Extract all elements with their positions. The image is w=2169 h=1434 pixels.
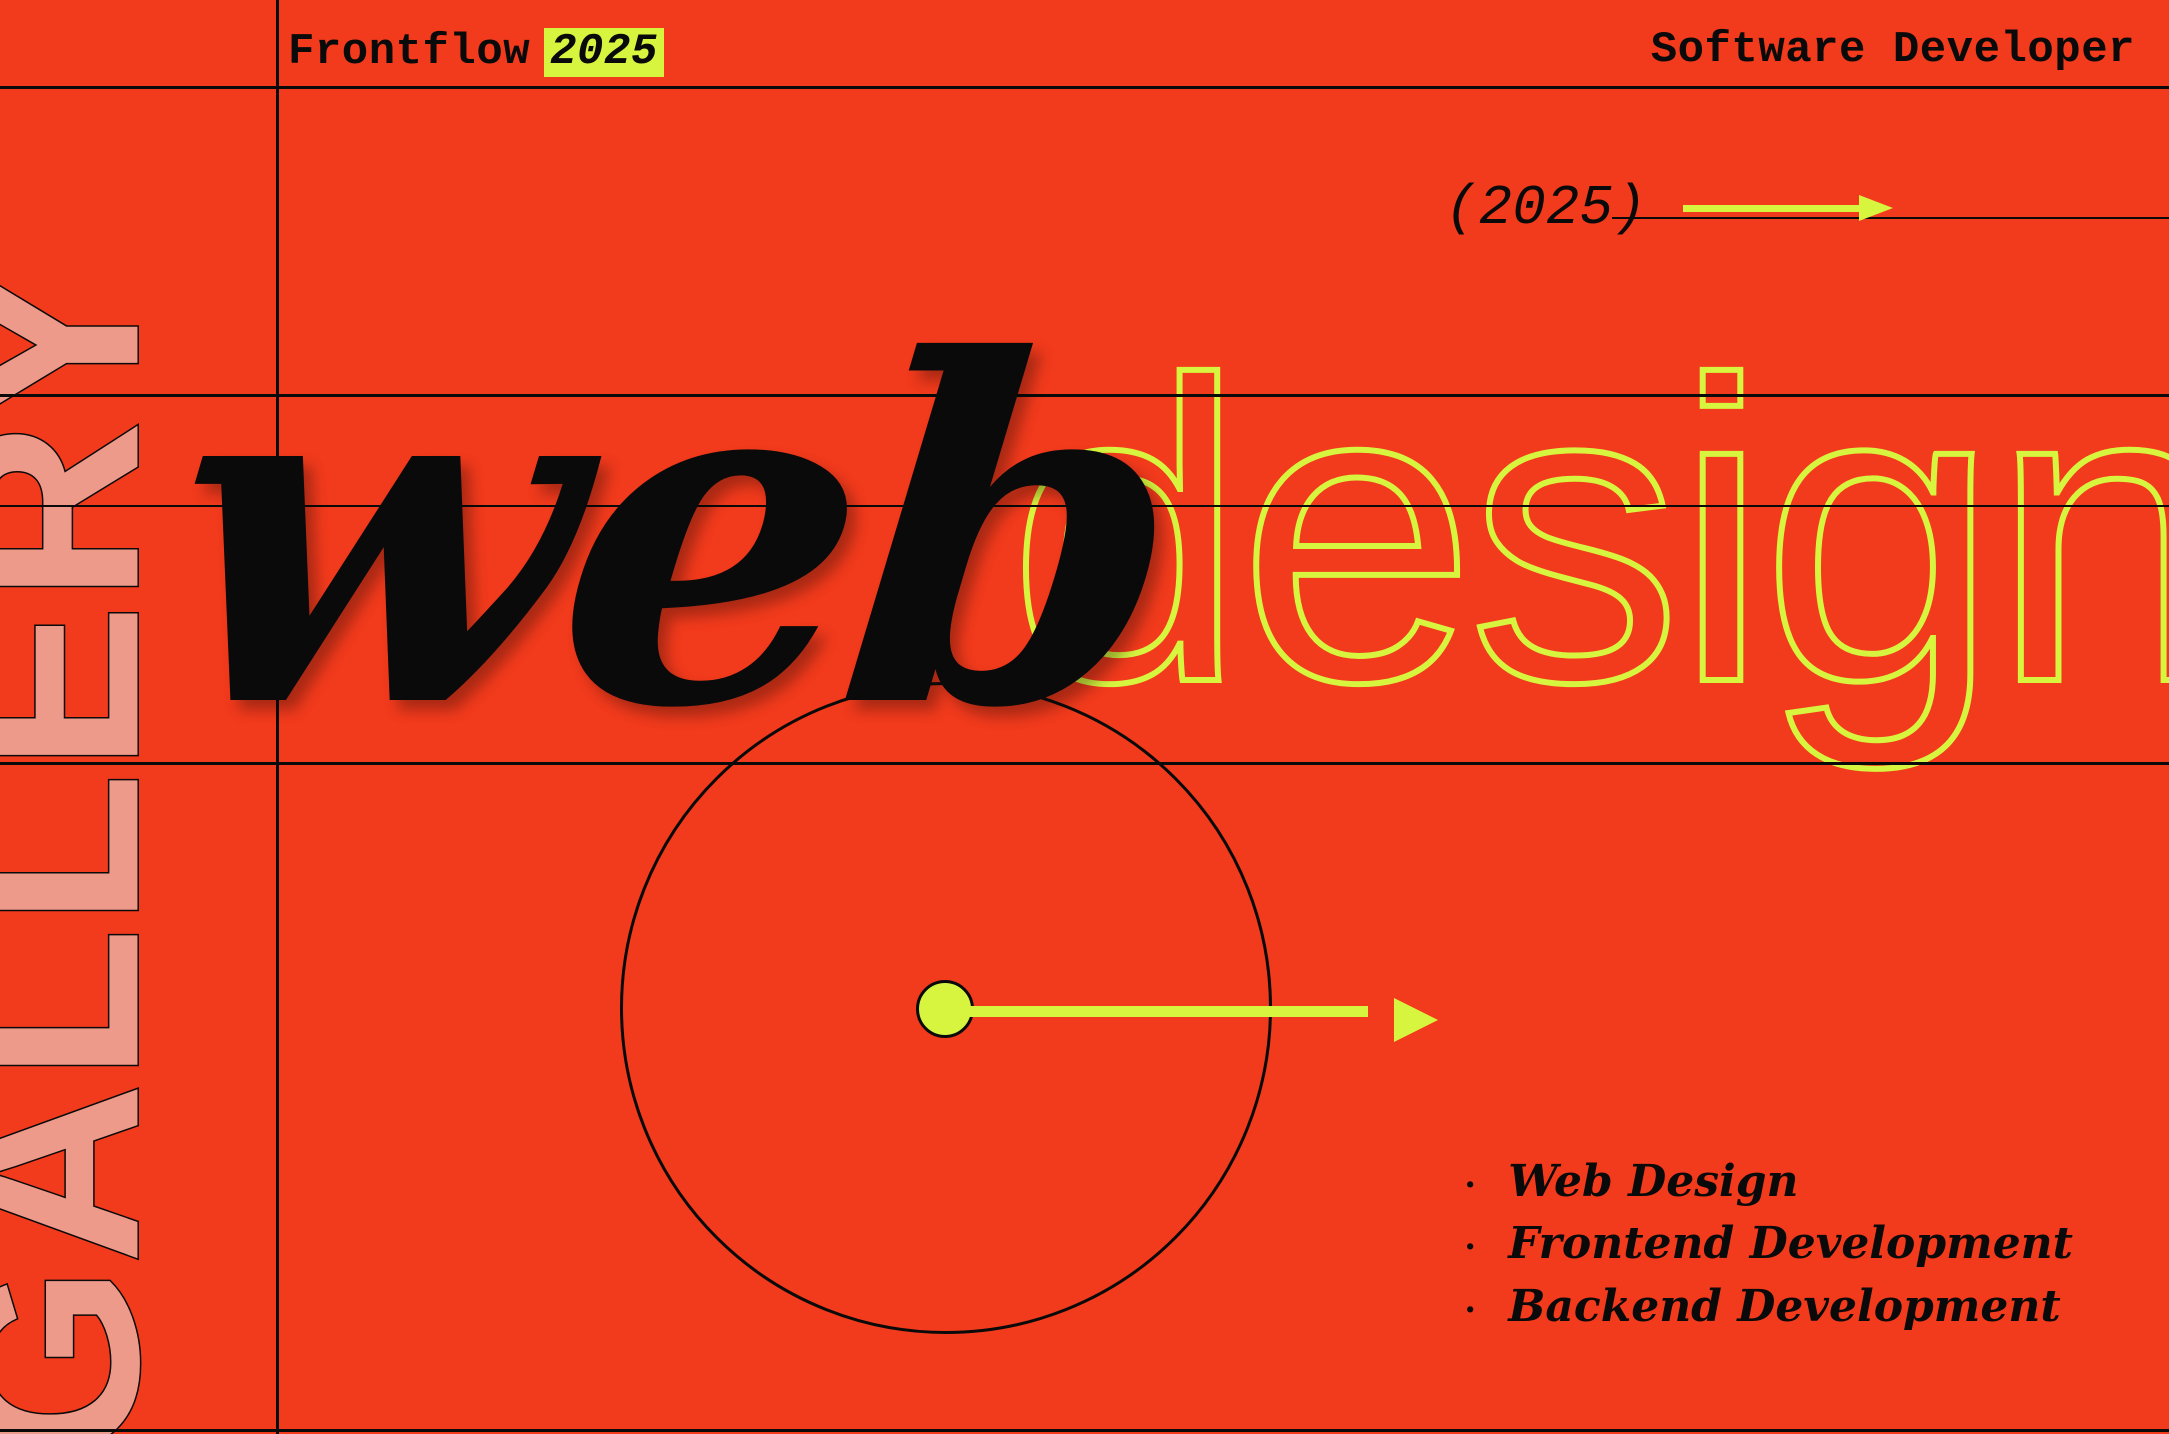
brand-name: Frontflow <box>288 27 530 77</box>
grid-rule-horizontal-1 <box>0 86 2169 89</box>
role-header: Software Developer <box>1651 28 2135 72</box>
brand-year-badge: 2025 <box>544 28 664 77</box>
grid-rule-horizontal-5 <box>0 1429 2169 1432</box>
year-marker-label: (2025) <box>1445 180 1647 236</box>
list-item-label: Frontend Development <box>1508 1213 2073 1275</box>
arrow-shaft <box>1683 205 1861 212</box>
services-list: · Web Design · Frontend Development · Ba… <box>1464 1151 2073 1338</box>
list-item: · Web Design <box>1464 1151 2073 1213</box>
arrow-head <box>1394 998 1438 1042</box>
arrow-right-icon <box>1683 201 1893 215</box>
list-item: · Frontend Development <box>1464 1213 2073 1275</box>
pointer-arrow-right-icon <box>968 998 1438 1024</box>
bullet-icon: · <box>1464 1161 1508 1209</box>
bullet-icon: · <box>1464 1223 1508 1271</box>
poster-canvas: GALLERY design web Frontflow2025 Softwar… <box>0 0 2169 1434</box>
arrow-head <box>1859 195 1893 221</box>
bullet-icon: · <box>1464 1286 1508 1334</box>
arrow-shaft <box>968 1006 1368 1017</box>
dot-marker <box>916 980 974 1038</box>
brand-header: Frontflow2025 <box>288 28 664 77</box>
list-item: · Backend Development <box>1464 1276 2073 1338</box>
design-outline-word: design <box>1008 318 2169 746</box>
year-marker-row: (2025) <box>1445 178 1893 238</box>
list-item-label: Web Design <box>1508 1151 1798 1213</box>
list-item-label: Backend Development <box>1508 1276 2060 1338</box>
